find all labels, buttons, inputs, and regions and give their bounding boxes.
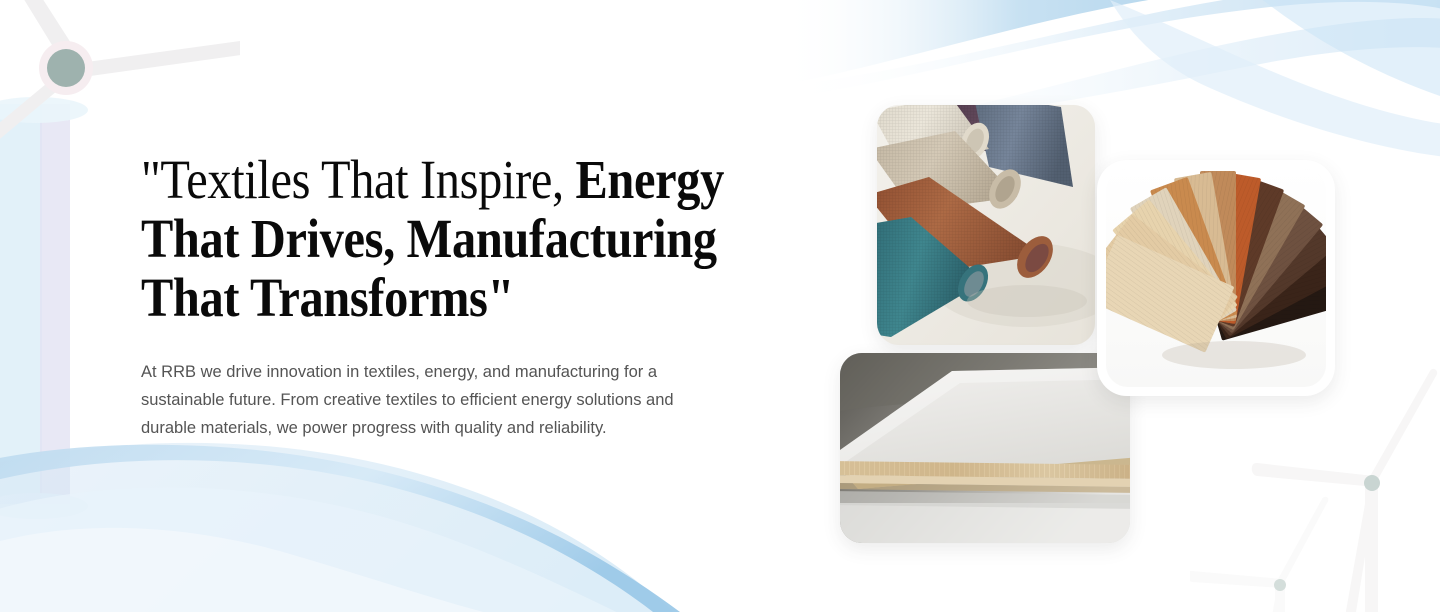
page-title: "Textiles That Inspire, Energy That Driv… — [141, 150, 757, 327]
image-card-fabric-rolls[interactable] — [877, 105, 1095, 345]
hero-section: "Textiles That Inspire, Energy That Driv… — [0, 0, 1440, 612]
image-card-plywood-panel[interactable] — [840, 353, 1130, 543]
image-card-wood-veneer[interactable] — [1097, 160, 1335, 396]
fabric-rolls-image — [877, 105, 1095, 345]
hero-description: At RRB we drive innovation in textiles, … — [141, 327, 689, 442]
hero-copy: "Textiles That Inspire, Energy That Driv… — [141, 150, 841, 442]
wood-veneer-fan-image — [1106, 169, 1326, 387]
plywood-panel-image — [840, 353, 1130, 543]
headline-regular: "Textiles That Inspire, — [141, 149, 575, 210]
